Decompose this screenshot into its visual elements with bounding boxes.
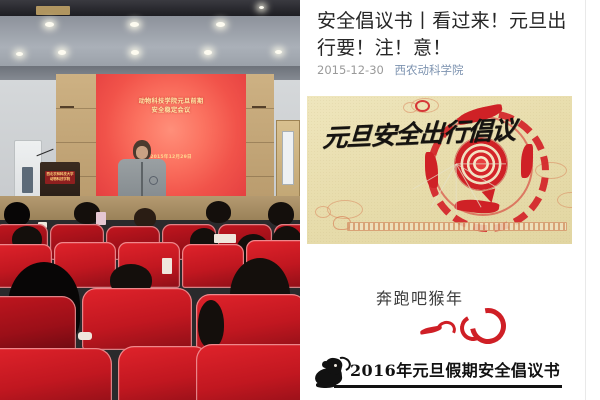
monkey-year-text: 奔跑吧猴年 [376, 288, 464, 310]
account-name[interactable]: 西农动科学院 [395, 63, 464, 77]
seat [0, 348, 112, 400]
ceiling-light [45, 22, 54, 27]
article-title: 安全倡议书丨看过来！元旦出行要！注！意！ [317, 8, 585, 62]
caption-block: 2016年元旦假期安全倡议书 [310, 356, 585, 394]
audience-head [198, 300, 224, 348]
audience-head [4, 202, 30, 226]
audience-head [206, 201, 231, 223]
article-meta: 2015-12-30 西农动科学院 [317, 63, 464, 78]
monkey-year-block: 奔跑吧猴年 [376, 288, 586, 346]
side-door [276, 120, 300, 208]
projection-title-line1: 动物科技学院元旦前期 [96, 97, 246, 106]
ceiling-vent [36, 6, 70, 15]
paper-sheet [162, 258, 172, 274]
ceiling-light [275, 50, 282, 54]
seat [82, 288, 192, 350]
poster-image[interactable]: 元旦安全出行倡议 [307, 96, 572, 244]
ceiling-light [204, 50, 212, 55]
monkey-silhouette-icon [313, 358, 345, 388]
podium-text: 西北农林科技大学 动物科技学院 [45, 172, 75, 182]
paper-sheet [214, 234, 236, 243]
caption-text: 2016年元旦假期安全倡议书 [350, 359, 560, 383]
caption-underline [334, 385, 562, 388]
paper-sheet [96, 212, 106, 225]
projection-title: 动物科技学院元旦前期 安全稳定会议 [96, 97, 246, 115]
ceiling-light [216, 22, 225, 27]
cabinet-panel [22, 167, 33, 193]
cloud-red-icon [415, 100, 430, 112]
publish-date: 2015-12-30 [317, 63, 384, 77]
jacket-badge [149, 176, 158, 185]
bottom-decor-bar [347, 222, 567, 231]
speaker-face [136, 146, 148, 159]
audience-seating [0, 196, 300, 400]
cloud-motif-icon [315, 206, 331, 218]
phone-object [78, 332, 92, 340]
podium-plate: 西北农林科技大学 动物科技学院 [45, 171, 75, 184]
ceiling-light [131, 50, 139, 55]
audience-head [134, 208, 156, 228]
article-panel: 安全倡议书丨看过来！元旦出行要！注！意！ 2015-12-30 西农动科学院 [300, 0, 600, 400]
audience-head [268, 202, 294, 226]
projection-title-line2: 安全稳定会议 [96, 106, 246, 115]
seat [0, 296, 76, 352]
podium-line2: 动物科技学院 [45, 177, 75, 182]
ceiling-light [58, 50, 66, 55]
article-screenshot: 动物科技学院元旦前期 安全稳定会议 2015年12月29日 西北农林科技大学 动… [0, 0, 600, 400]
conference-photo: 动物科技学院元旦前期 安全稳定会议 2015年12月29日 西北农林科技大学 动… [0, 0, 300, 400]
ceiling-light [130, 22, 139, 27]
seat [196, 344, 300, 400]
panel-divider [585, 0, 586, 400]
red-cloud-swirl-icon [420, 308, 506, 334]
ceiling-light [16, 52, 23, 56]
ceiling-light [259, 6, 264, 9]
